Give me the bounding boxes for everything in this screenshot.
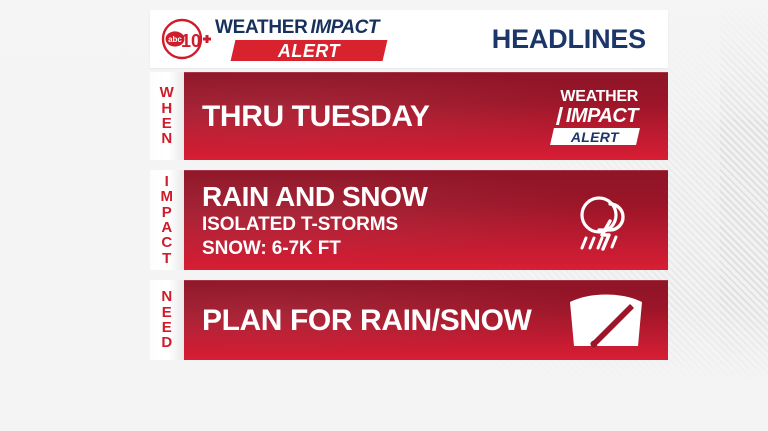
- row-tab-need: N E E D: [150, 280, 184, 360]
- station-branding: abc 10 WEATHER IMPACT ALERT: [158, 17, 385, 61]
- row-when-text: THRU TUESDAY: [184, 101, 429, 132]
- header-bar: abc 10 WEATHER IMPACT ALERT HEADLI: [150, 10, 668, 68]
- tab-letter: M: [161, 189, 174, 204]
- row-need-icon-slot: [560, 288, 652, 354]
- tab-letter: P: [161, 205, 174, 220]
- tab-letter: E: [160, 116, 175, 131]
- brand-impact-text: IMPACT: [311, 18, 379, 37]
- row-tab-impact-label: I M P A C T: [161, 174, 174, 266]
- row-impact-subline-2: SNOW: 6-7K FT: [202, 238, 428, 259]
- row-impact-headline: RAIN AND SNOW: [202, 182, 428, 211]
- headline-row-need: N E E D PLAN FOR RAIN/SNOW: [150, 280, 668, 360]
- row-when-headline: THRU TUESDAY: [202, 101, 429, 132]
- row-tab-when: W H E N: [150, 72, 184, 160]
- brand-alert-text: ALERT: [278, 41, 340, 59]
- row-tab-impact: I M P A C T: [150, 170, 184, 270]
- tab-letter: H: [160, 101, 175, 116]
- row-panel-need: PLAN FOR RAIN/SNOW: [184, 280, 668, 360]
- row-tab-when-label: W H E N: [160, 85, 175, 146]
- row-panel-impact: RAIN AND SNOW ISOLATED T-STORMS SNOW: 6-…: [184, 170, 668, 270]
- thunderstorm-rain-icon: [566, 185, 652, 257]
- row-need-headline: PLAN FOR RAIN/SNOW: [202, 305, 531, 336]
- mini-brand-impact-text: IMPACT: [558, 106, 638, 126]
- tab-letter: I: [161, 174, 174, 189]
- brand-alert-band: ALERT: [231, 40, 388, 61]
- row-tab-need-label: N E E D: [161, 289, 172, 350]
- weather-impact-alert-logo: WEATHER IMPACT ALERT: [215, 18, 385, 61]
- page-title: HEADLINES: [492, 24, 646, 55]
- tab-letter: E: [161, 305, 172, 320]
- row-impact-text: RAIN AND SNOW ISOLATED T-STORMS SNOW: 6-…: [184, 182, 428, 260]
- windshield-wiper-icon: [560, 288, 652, 354]
- svg-text:10: 10: [181, 31, 201, 51]
- tab-letter: W: [160, 85, 175, 100]
- mini-brand-weather-text: WEATHER: [560, 89, 638, 105]
- row-when-icon-slot: WEATHER IMPACT ALERT: [552, 89, 652, 145]
- brand-wordmark-top: WEATHER IMPACT: [215, 18, 385, 37]
- tab-letter: E: [161, 320, 172, 335]
- row-need-text: PLAN FOR RAIN/SNOW: [184, 305, 531, 336]
- brand-weather-text: WEATHER: [215, 18, 308, 37]
- row-impact-icon-slot: [566, 185, 652, 257]
- weather-graphic-stage: abc 10 WEATHER IMPACT ALERT HEADLI: [0, 0, 768, 431]
- row-panel-when: THRU TUESDAY WEATHER IMPACT ALERT: [184, 72, 668, 160]
- headline-row-impact: I M P A C T RAIN AND SNOW ISOLATED T-STO…: [150, 170, 668, 270]
- headline-row-when: W H E N THRU TUESDAY WEATHER IMPACT ALER…: [150, 72, 668, 160]
- tab-letter: A: [161, 220, 174, 235]
- row-impact-subline-1: ISOLATED T-STORMS: [202, 214, 428, 235]
- tab-letter: T: [161, 251, 174, 266]
- tab-letter: C: [161, 235, 174, 250]
- tab-letter: N: [161, 289, 172, 304]
- mini-brand-alert-text: ALERT: [571, 129, 619, 143]
- mini-brand-alert-band: ALERT: [550, 128, 640, 145]
- tab-letter: N: [160, 131, 175, 146]
- abc10-plus-logo-icon: abc 10: [158, 17, 214, 61]
- weather-impact-alert-logo-icon: WEATHER IMPACT ALERT: [552, 89, 638, 145]
- tab-letter: D: [161, 335, 172, 350]
